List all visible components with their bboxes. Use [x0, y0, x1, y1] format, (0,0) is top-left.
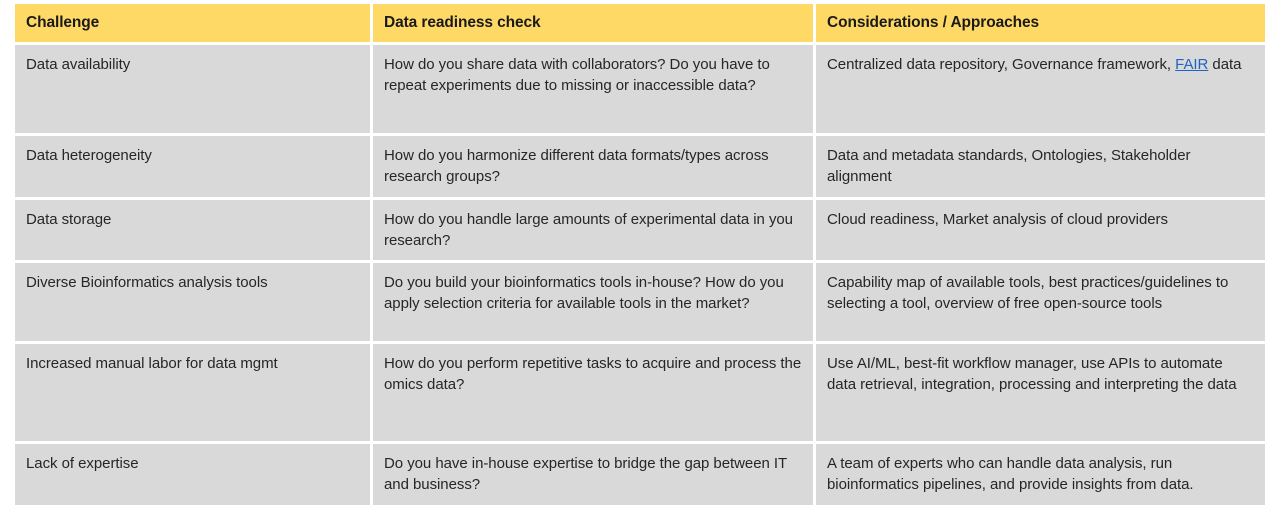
table-row: Data availability How do you share data … [15, 45, 1265, 133]
challenge-text: Data storage [26, 209, 360, 230]
challenges-table-container: Challenge Data readiness check Considera… [15, 4, 1253, 505]
challenge-text: Increased manual labor for data mgmt [26, 353, 360, 374]
cell-readiness-check: Do you have in-house expertise to bridge… [373, 444, 813, 505]
considerations-text: Use AI/ML, best-fit workflow manager, us… [827, 353, 1255, 396]
cell-challenge: Increased manual labor for data mgmt [15, 344, 370, 441]
challenge-text: Lack of expertise [26, 453, 360, 474]
cell-considerations: Data and metadata standards, Ontologies,… [816, 136, 1265, 197]
readiness-check-text: Do you build your bioinformatics tools i… [384, 272, 803, 315]
challenge-text: Data availability [26, 54, 360, 75]
column-header-considerations-approaches: Considerations / Approaches [816, 4, 1265, 42]
table-header: Challenge Data readiness check Considera… [15, 4, 1265, 42]
readiness-check-text: How do you share data with collaborators… [384, 54, 803, 97]
cell-considerations: A team of experts who can handle data an… [816, 444, 1265, 505]
challenges-readiness-table: Challenge Data readiness check Considera… [12, 1, 1268, 508]
cell-challenge: Data storage [15, 200, 370, 261]
cell-readiness-check: How do you harmonize different data form… [373, 136, 813, 197]
column-header-challenge: Challenge [15, 4, 370, 42]
cell-challenge: Diverse Bioinformatics analysis tools [15, 263, 370, 341]
cell-readiness-check: Do you build your bioinformatics tools i… [373, 263, 813, 341]
cell-considerations: Capability map of available tools, best … [816, 263, 1265, 341]
considerations-text: Cloud readiness, Market analysis of clou… [827, 209, 1255, 230]
cell-considerations: Centralized data repository, Governance … [816, 45, 1265, 133]
cell-readiness-check: How do you share data with collaborators… [373, 45, 813, 133]
challenge-text: Diverse Bioinformatics analysis tools [26, 272, 360, 293]
cell-readiness-check: How do you handle large amounts of exper… [373, 200, 813, 261]
cell-challenge: Lack of expertise [15, 444, 370, 505]
table-body: Data availability How do you share data … [15, 45, 1265, 505]
table-row: Lack of expertise Do you have in-house e… [15, 444, 1265, 505]
table-row: Data heterogeneity How do you harmonize … [15, 136, 1265, 197]
fair-link[interactable]: FAIR [1175, 56, 1208, 73]
considerations-text: Capability map of available tools, best … [827, 272, 1255, 315]
table-row: Diverse Bioinformatics analysis tools Do… [15, 263, 1265, 341]
considerations-text-prefix: Centralized data repository, Governance … [827, 56, 1175, 73]
cell-readiness-check: How do you perform repetitive tasks to a… [373, 344, 813, 441]
considerations-text: Data and metadata standards, Ontologies,… [827, 145, 1255, 188]
readiness-check-text: How do you handle large amounts of exper… [384, 209, 803, 252]
readiness-check-text: How do you perform repetitive tasks to a… [384, 353, 803, 396]
cell-considerations: Use AI/ML, best-fit workflow manager, us… [816, 344, 1265, 441]
cell-challenge: Data availability [15, 45, 370, 133]
considerations-text-suffix: data [1208, 56, 1241, 73]
table-row: Increased manual labor for data mgmt How… [15, 344, 1265, 441]
table-row: Data storage How do you handle large amo… [15, 200, 1265, 261]
column-header-data-readiness-check: Data readiness check [373, 4, 813, 42]
table-header-row: Challenge Data readiness check Considera… [15, 4, 1265, 42]
cell-considerations: Cloud readiness, Market analysis of clou… [816, 200, 1265, 261]
cell-challenge: Data heterogeneity [15, 136, 370, 197]
readiness-check-text: How do you harmonize different data form… [384, 145, 803, 188]
challenge-text: Data heterogeneity [26, 145, 360, 166]
